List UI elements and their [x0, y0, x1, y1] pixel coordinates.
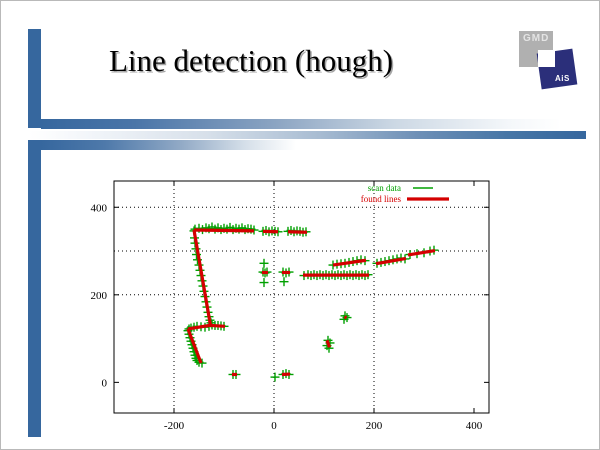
- x-tick-label: 200: [366, 420, 383, 431]
- decor-bar-lower-arm: [41, 140, 296, 150]
- plot-ticks: [114, 181, 489, 413]
- y-tick-label: 0: [102, 377, 108, 389]
- decor-bar-upper-stem: [28, 29, 41, 128]
- logo-white-notch: [538, 50, 555, 67]
- gmd-ais-logo: GMD AiS: [519, 31, 581, 93]
- plot-gridlines: [114, 181, 489, 413]
- x-axis-tick-labels: -2000200400: [164, 420, 483, 431]
- y-axis-tick-labels: 0200400: [91, 202, 108, 389]
- line-detection-plot: -2000200400 0200400 scan datafound lines: [79, 173, 499, 431]
- plot-legend: scan datafound lines: [361, 183, 449, 204]
- slide-canvas: Line detection (hough) GMD AiS -20002004…: [0, 0, 600, 450]
- series-found-lines: [188, 230, 435, 374]
- decor-bar-middle-arm: [29, 131, 586, 139]
- decor-bar-upper-arm: [41, 119, 561, 129]
- x-tick-label: 400: [466, 420, 483, 431]
- plot-frame: [114, 181, 489, 413]
- logo-ais-text: AiS: [555, 74, 570, 83]
- series-scan-data: [184, 222, 439, 381]
- y-tick-label: 200: [91, 290, 108, 302]
- decor-bar-lower-stem: [28, 140, 41, 437]
- legend-label-found-lines: found lines: [361, 194, 402, 204]
- x-tick-label: -200: [164, 420, 185, 431]
- plot-svg: -2000200400 0200400 scan datafound lines: [79, 173, 499, 431]
- logo-gmd-text: GMD: [523, 33, 549, 44]
- x-tick-label: 0: [271, 420, 277, 431]
- slide-title: Line detection (hough): [109, 41, 449, 81]
- legend-label-scan-data: scan data: [368, 183, 401, 193]
- y-tick-label: 400: [91, 202, 108, 214]
